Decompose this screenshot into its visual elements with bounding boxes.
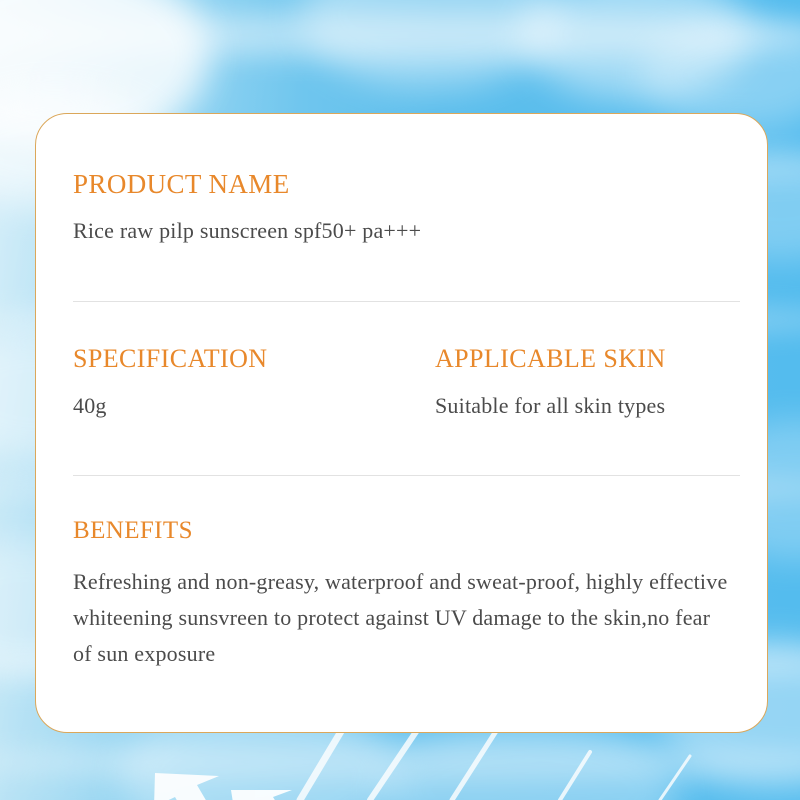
applicable-skin-value: Suitable for all skin types — [435, 395, 734, 417]
specification-value: 40g — [73, 395, 435, 417]
section-benefits: BENEFITS Refreshing and non-greasy, wate… — [73, 518, 734, 672]
divider-bottom — [73, 475, 740, 476]
specification-heading: SPECIFICATION — [73, 346, 435, 372]
benefits-value: Refreshing and non-greasy, waterproof an… — [73, 564, 734, 672]
benefits-heading: BENEFITS — [73, 518, 734, 543]
applicable-skin-heading: APPLICABLE SKIN — [435, 346, 734, 372]
product-name-heading: PRODUCT NAME — [73, 171, 734, 198]
section-specification: SPECIFICATION 40g — [73, 346, 435, 417]
divider-top — [73, 301, 740, 302]
product-info-card: PRODUCT NAME Rice raw pilp sunscreen spf… — [35, 113, 768, 733]
section-spec-and-skin: SPECIFICATION 40g APPLICABLE SKIN Suitab… — [73, 346, 734, 417]
section-applicable-skin: APPLICABLE SKIN Suitable for all skin ty… — [435, 346, 734, 417]
product-name-value: Rice raw pilp sunscreen spf50+ pa+++ — [73, 220, 734, 242]
section-product-name: PRODUCT NAME Rice raw pilp sunscreen spf… — [73, 171, 734, 242]
